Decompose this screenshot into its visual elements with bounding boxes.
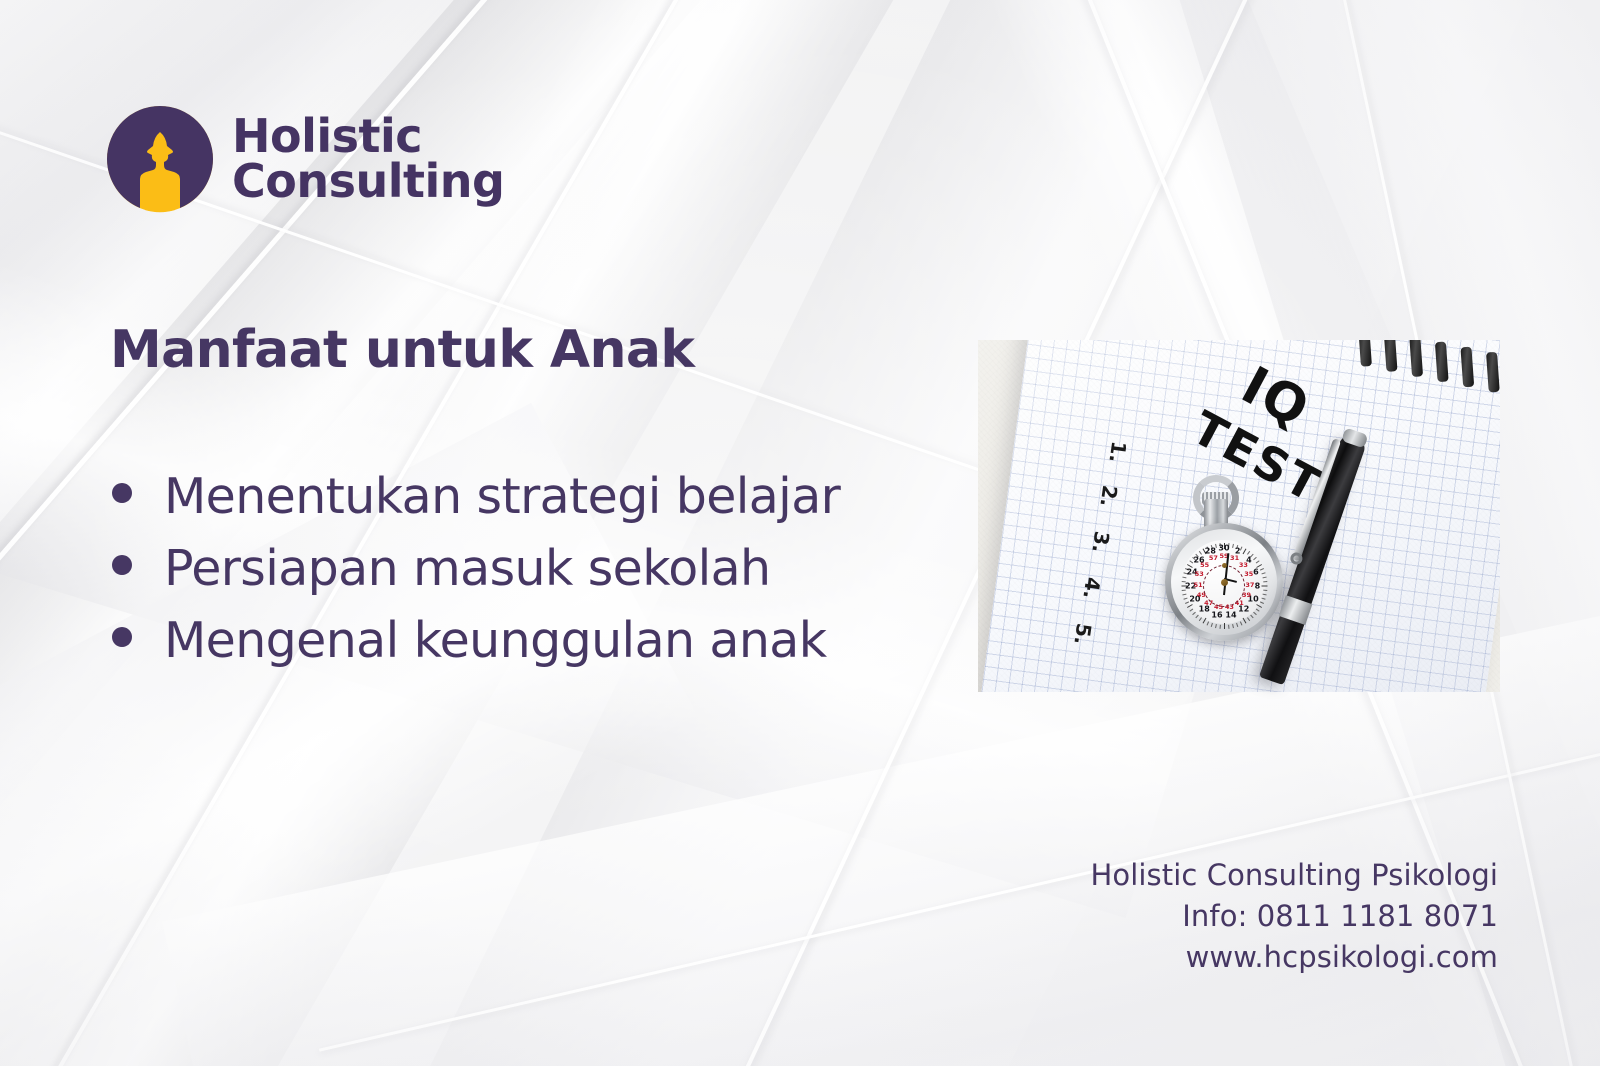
brand-name-line1: Holistic: [232, 114, 504, 159]
stopwatch-tick: [1182, 594, 1186, 596]
brand-logo: Holistic Consulting: [106, 105, 504, 213]
stopwatch-tick: [1189, 609, 1193, 612]
stopwatch-tick: [1211, 623, 1213, 627]
list-item-label: Mengenal keunggulan anak: [164, 612, 827, 669]
stopwatch-dial-number: 16: [1211, 610, 1222, 619]
stopwatch-dial-number: 53: [1195, 570, 1204, 578]
stopwatch-tick: [1260, 568, 1264, 571]
stopwatch-tick: [1256, 609, 1260, 612]
stopwatch-tick: [1256, 604, 1262, 608]
stopwatch-tick: [1236, 623, 1238, 627]
bullet-dot-icon: [112, 627, 132, 647]
bullet-dot-icon: [112, 483, 132, 503]
handwritten-number: 1.: [1104, 440, 1131, 465]
stopwatch-tick: [1256, 560, 1260, 563]
stopwatch-dial-number: 51: [1194, 581, 1203, 589]
brand-name-line2: Consulting: [232, 159, 504, 204]
stopwatch-tick: [1262, 586, 1268, 587]
stopwatch-dial-number: 8: [1255, 581, 1261, 590]
stopwatch-tick: [1232, 544, 1234, 548]
footer-info: Info: 0811 1181 8071: [1090, 896, 1498, 937]
stopwatch-tick: [1261, 598, 1265, 600]
handwritten-number: 5.: [1069, 622, 1096, 647]
two-faces-circle-logo-icon: [106, 105, 214, 213]
stopwatch-tick: [1260, 601, 1264, 604]
stopwatch-tick: [1182, 577, 1186, 579]
benefits-list: Menentukan strategi belajar Persiapan ma…: [112, 468, 992, 684]
page-title: Manfaat untuk Anak: [110, 320, 694, 380]
stopwatch-tick: [1183, 598, 1187, 600]
handwritten-number: 4.: [1078, 576, 1105, 601]
stopwatch-dial-number: 57: [1209, 554, 1218, 562]
list-item: Menentukan strategi belajar: [112, 468, 992, 540]
stopwatch-tick: [1243, 618, 1247, 624]
stopwatch-tick: [1263, 577, 1267, 579]
stopwatch-dial-number: 6: [1253, 567, 1259, 576]
list-item: Mengenal keunggulan anak: [112, 612, 992, 684]
stopwatch-tick: [1232, 624, 1234, 628]
stopwatch-tick: [1192, 612, 1196, 615]
handwritten-number: 3.: [1087, 530, 1114, 555]
stopwatch-tick: [1199, 617, 1202, 621]
stopwatch-dial-number: 55: [1200, 561, 1209, 569]
list-item: Persiapan masuk sekolah: [112, 540, 992, 612]
contact-footer: Holistic Consulting Psikologi Info: 0811…: [1090, 855, 1498, 979]
stopwatch-tick: [1261, 572, 1265, 574]
stopwatch-tick: [1228, 625, 1229, 629]
bullet-dot-icon: [112, 555, 132, 575]
stopwatch-tick: [1253, 612, 1257, 615]
stopwatch-tick: [1247, 617, 1250, 621]
stopwatch-tick: [1215, 624, 1217, 628]
stopwatch-dial-number: 35: [1244, 570, 1253, 578]
stopwatch-dial-number: 14: [1225, 610, 1236, 619]
stopwatch-tick: [1187, 604, 1193, 608]
list-item-label: Persiapan masuk sekolah: [164, 540, 771, 597]
stopwatch-tick: [1263, 581, 1267, 582]
stopwatch-tick: [1203, 618, 1207, 624]
stopwatch-tick: [1263, 594, 1267, 596]
handwritten-number: 2.: [1095, 484, 1122, 509]
stopwatch-tick: [1240, 621, 1243, 625]
footer-website[interactable]: www.hcpsikologi.com: [1090, 937, 1498, 978]
stopwatch-tick: [1224, 623, 1225, 629]
stopwatch-tick: [1207, 621, 1210, 625]
stopwatch-tick: [1250, 615, 1253, 619]
stopwatch-tick: [1243, 549, 1247, 555]
stopwatch-tick: [1195, 615, 1198, 619]
stopwatch-tick: [1263, 590, 1267, 591]
stopwatch-tick: [1220, 625, 1221, 629]
footer-company: Holistic Consulting Psikologi: [1090, 855, 1498, 896]
stopwatch-dial-number: 37: [1245, 581, 1254, 589]
stopwatch-tick: [1253, 557, 1257, 560]
stopwatch-dial-number: 33: [1239, 561, 1248, 569]
slide-canvas: Holistic Consulting Manfaat untuk Anak M…: [0, 0, 1600, 1066]
list-item-label: Menentukan strategi belajar: [164, 468, 840, 525]
brand-name: Holistic Consulting: [232, 114, 504, 203]
stopwatch-dial-number: 31: [1230, 554, 1239, 562]
